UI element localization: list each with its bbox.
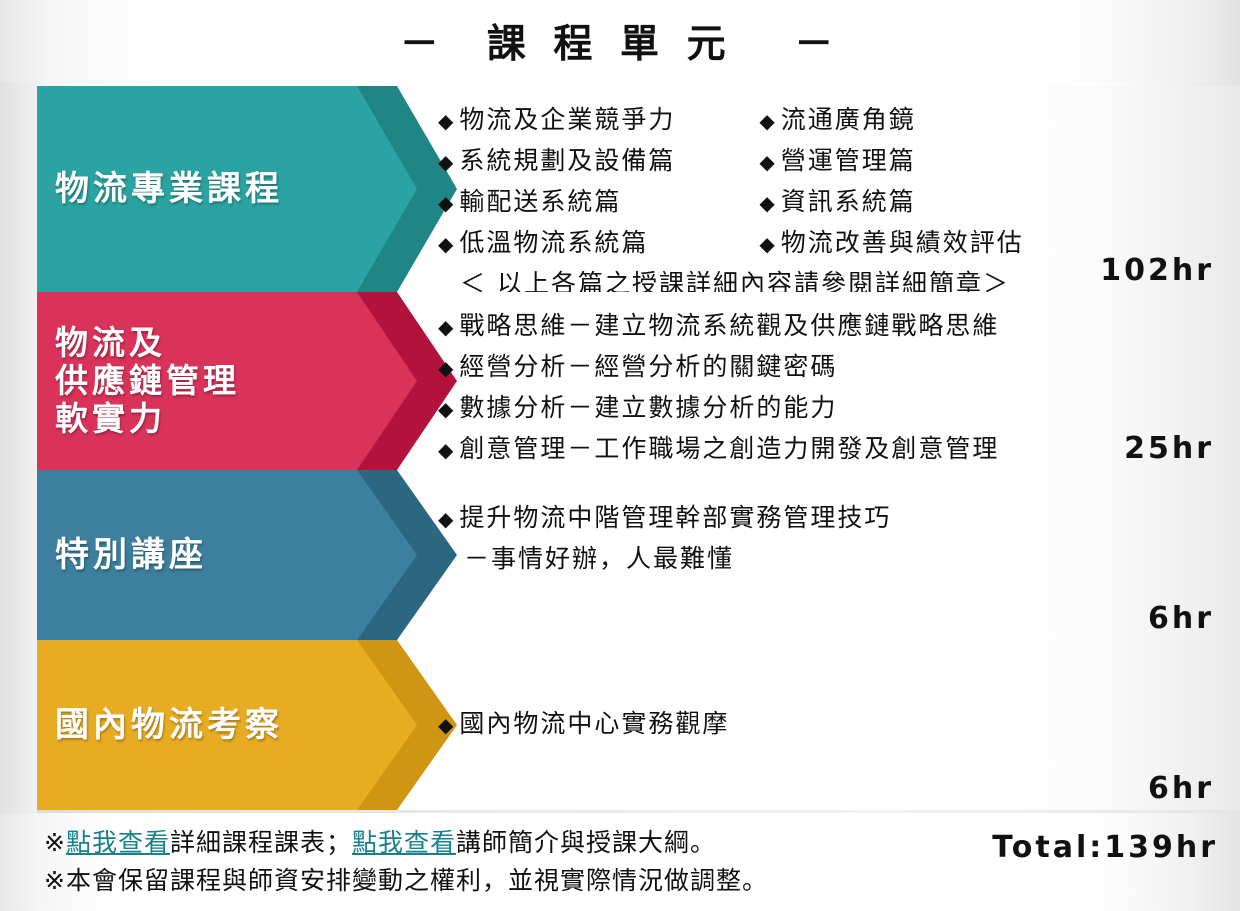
section-row-special-lecture: 特別講座 ◆ 提升物流中階管理幹部實務管理技巧 －事情好辦，人最難懂 6hr — [0, 470, 1240, 640]
section-row-domestic-visit: 國內物流考察 ◆ 國內物流中心實務觀摩 6hr — [0, 640, 1240, 810]
bullet-text: 提升物流中階管理幹部實務管理技巧 — [459, 498, 891, 538]
section-content-professional: ◆ 物流及企業競爭力 ◆ 流通廣角鏡 ◆ 系統規劃及設備篇 ◆ 營運管理篇 ◆ … — [438, 86, 1110, 306]
diamond-bullet-icon: ◆ — [438, 183, 455, 223]
bullet-item: ◆ 系統規劃及設備篇 ◆ 營運管理篇 — [438, 141, 1110, 182]
bullet-item: ◆ 物流及企業競爭力 ◆ 流通廣角鏡 — [438, 100, 1110, 141]
bullet-text-left: 物流及企業競爭力 — [459, 100, 759, 140]
bullet-text-right: 物流改善與績效評估 — [781, 223, 1024, 263]
bullet-text-left: 低溫物流系統篇 — [459, 223, 759, 263]
bullet-list: ◆ 提升物流中階管理幹部實務管理技巧 — [438, 498, 1110, 539]
section-label: 物流專業課程 — [37, 169, 283, 209]
diamond-bullet-icon: ◆ — [438, 224, 455, 264]
bullet-item: ◆ 國內物流中心實務觀摩 — [438, 704, 1110, 745]
section-list: 物流專業課程 ◆ 物流及企業競爭力 ◆ 流通廣角鏡 ◆ 系統規劃及設備篇 ◆ 營… — [0, 86, 1240, 810]
section-label-block-special-lecture[interactable]: 特別講座 — [37, 470, 427, 640]
bullet-item: ◆ 輸配送系統篇 ◆ 資訊系統篇 — [438, 182, 1110, 223]
section-row-professional: 物流專業課程 ◆ 物流及企業競爭力 ◆ 流通廣角鏡 ◆ 系統規劃及設備篇 ◆ 營… — [0, 86, 1240, 292]
section-content-special-lecture: ◆ 提升物流中階管理幹部實務管理技巧 －事情好辦，人最難懂 — [438, 470, 1110, 668]
section-label: 物流及 供應鏈管理 軟實力 — [37, 324, 240, 439]
footer-line1-suffix: 講師簡介與授課大綱。 — [456, 828, 716, 857]
diamond-bullet-icon: ◆ — [438, 705, 455, 745]
instructor-profile-link[interactable]: 點我查看 — [352, 828, 456, 857]
diamond-bullet-icon: ◆ — [759, 101, 776, 141]
section-label: 特別講座 — [37, 535, 207, 575]
bullet-text: 創意管理－工作職場之創造力開發及創意管理 — [459, 429, 999, 469]
section-label: 國內物流考察 — [37, 705, 283, 745]
course-schedule-link[interactable]: 點我查看 — [66, 828, 170, 857]
section-row-supply-chain-soft-power: 物流及 供應鏈管理 軟實力 ◆ 戰略思維－建立物流系統觀及供應鏈戰略思維 ◆ 經… — [0, 292, 1240, 470]
section-content-supply-chain-soft-power: ◆ 戰略思維－建立物流系統觀及供應鏈戰略思維 ◆ 經營分析－經營分析的關鍵密碼 … — [438, 292, 1110, 484]
bullet-item: ◆ 數據分析－建立數據分析的能力 — [438, 388, 1110, 429]
footer-notes: ※點我查看詳細課程課表；點我查看講師簡介與授課大綱。 ※本會保留課程與師資安排變… — [44, 824, 768, 900]
bullet-list: ◆ 物流及企業競爭力 ◆ 流通廣角鏡 ◆ 系統規劃及設備篇 ◆ 營運管理篇 ◆ … — [438, 100, 1110, 264]
bullet-text: 經營分析－經營分析的關鍵密碼 — [459, 347, 837, 387]
diamond-bullet-icon: ◆ — [438, 348, 455, 388]
bullet-text-left: 系統規劃及設備篇 — [459, 141, 759, 181]
section-hours: 6hr — [1148, 771, 1214, 806]
diamond-bullet-icon: ◆ — [759, 183, 776, 223]
bullet-item: ◆ 經營分析－經營分析的關鍵密碼 — [438, 347, 1110, 388]
bullet-text: 國內物流中心實務觀摩 — [459, 704, 729, 744]
page-title: － 課 程 單 元 － — [400, 13, 841, 69]
section-label-block-supply-chain-soft-power[interactable]: 物流及 供應鏈管理 軟實力 — [37, 292, 427, 470]
diamond-bullet-icon: ◆ — [438, 101, 455, 141]
bullet-text-right: 營運管理篇 — [781, 141, 916, 181]
footer: ※點我查看詳細課程課表；點我查看講師簡介與授課大綱。 ※本會保留課程與師資安排變… — [0, 814, 1240, 911]
page-title-bar: － 課 程 單 元 － — [0, 0, 1240, 82]
bullet-item: ◆ 低溫物流系統篇 ◆ 物流改善與績效評估 — [438, 223, 1110, 264]
bullet-item: ◆ 戰略思維－建立物流系統觀及供應鏈戰略思維 — [438, 306, 1110, 347]
diamond-bullet-icon: ◆ — [759, 142, 776, 182]
bullet-item: ◆ 創意管理－工作職場之創造力開發及創意管理 — [438, 429, 1110, 470]
row-separator — [37, 810, 1240, 813]
bullet-text: 戰略思維－建立物流系統觀及供應鏈戰略思維 — [459, 306, 999, 346]
bullet-text: 數據分析－建立數據分析的能力 — [459, 388, 837, 428]
diamond-bullet-icon: ◆ — [438, 430, 455, 470]
bullet-list: ◆ 戰略思維－建立物流系統觀及供應鏈戰略思維 ◆ 經營分析－經營分析的關鍵密碼 … — [438, 306, 1110, 470]
course-units-poster: － 課 程 單 元 － 物流專業課程 ◆ 物流及企業競爭力 ◆ 流通廣角鏡 — [0, 0, 1240, 911]
footer-line-1: ※點我查看詳細課程課表；點我查看講師簡介與授課大綱。 — [44, 824, 768, 862]
bullet-subtext: －事情好辦，人最難懂 — [438, 539, 1110, 579]
footer-line1-prefix: ※ — [44, 828, 66, 857]
section-hours: 102hr — [1100, 253, 1214, 288]
section-label-block-domestic-visit[interactable]: 國內物流考察 — [37, 640, 427, 810]
footer-line-2: ※本會保留課程與師資安排變動之權利，並視實際情況做調整。 — [44, 862, 768, 900]
total-hours: Total:139hr — [992, 830, 1218, 865]
diamond-bullet-icon: ◆ — [438, 142, 455, 182]
footer-line1-mid: 詳細課程課表； — [170, 828, 352, 857]
diamond-bullet-icon: ◆ — [759, 224, 776, 264]
bullet-text-left: 輸配送系統篇 — [459, 182, 759, 222]
section-hours: 25hr — [1124, 431, 1214, 466]
diamond-bullet-icon: ◆ — [438, 389, 455, 429]
section-hours: 6hr — [1148, 601, 1214, 636]
bullet-text-right: 資訊系統篇 — [781, 182, 916, 222]
diamond-bullet-icon: ◆ — [438, 499, 455, 539]
bullet-text-right: 流通廣角鏡 — [781, 100, 916, 140]
section-label-block-professional[interactable]: 物流專業課程 — [37, 86, 427, 292]
bullet-list: ◆ 國內物流中心實務觀摩 — [438, 704, 1110, 745]
diamond-bullet-icon: ◆ — [438, 307, 455, 347]
bullet-item: ◆ 提升物流中階管理幹部實務管理技巧 — [438, 498, 1110, 539]
